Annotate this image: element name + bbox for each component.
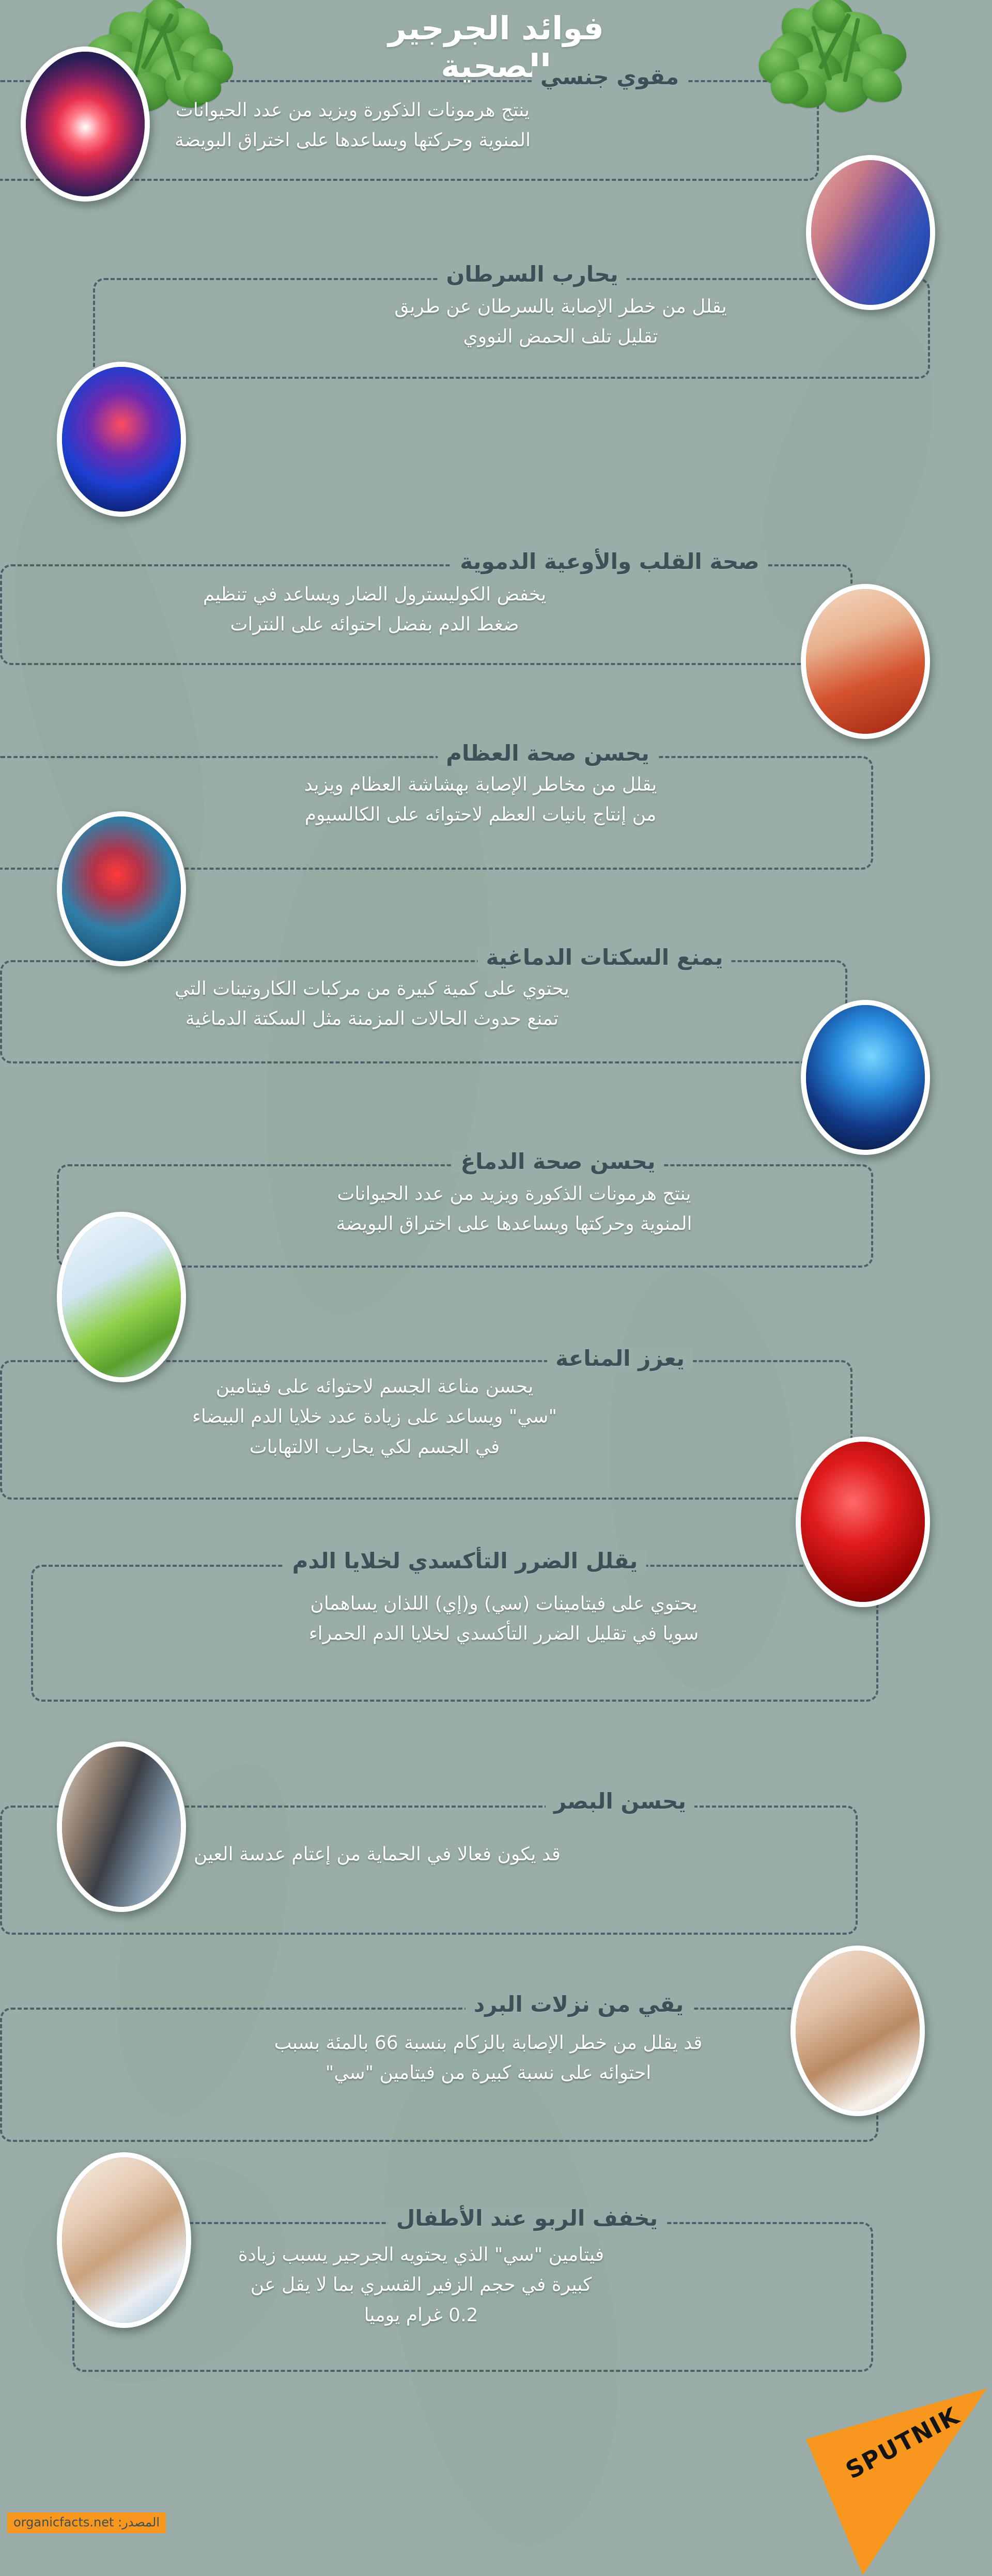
benefit-text-fights-cancer: يقلل من خطر الإصابة بالسرطان عن طريقتقلي… [222, 292, 899, 352]
benefit-text-line: "سي" ويساعد على زيادة عدد خلايا الدم الب… [31, 1402, 718, 1432]
benefit-heading-prevents-colds: يقي من نزلات البرد [466, 1994, 692, 2015]
sputnik-wedge-logo: SPUTNIK [805, 2377, 991, 2576]
benefit-text-heart-and-blood-vessels: يخفض الكوليسترول الضار ويساعد في تنظيمضغ… [31, 580, 718, 640]
benefit-text-line: كبيرة في حجم الزفير القسري بما لا يقل عن [103, 2270, 739, 2300]
benefit-heading-reduces-oxidative-damage: يقلل الضرر التأكسدي لخلايا الدم [284, 1550, 646, 1572]
title-line-2: الصحية [0, 47, 992, 85]
benefit-text-line: يخفض الكوليسترول الضار ويساعد في تنظيم [31, 580, 718, 610]
benefit-text-improves-vision: قد يكون فعالا في الحماية من إعتام عدسة ا… [31, 1840, 723, 1870]
benefit-text-line: ينتج هرمونات الذكورة ويزيد من عدد الحيوا… [21, 96, 685, 126]
benefit-heading-prevents-strokes: يمنع السكتات الدماغية [478, 947, 732, 968]
benefit-text-prevents-strokes: يحتوي على كمية كبيرة من مركبات الكاروتين… [31, 974, 713, 1035]
benefit-text-sexual-enhancer: ينتج هرمونات الذكورة ويزيد من عدد الحيوا… [21, 96, 685, 156]
infographic-page: فوائد الجرجير الصحية مقوي جنسيينتج هرمون… [0, 0, 992, 2576]
benefit-text-relieves-child-asthma: فيتامين "سي" الذي يحتويه الجرجير يسبب زي… [103, 2240, 739, 2331]
immunity-virus-shield-image [57, 1212, 186, 1382]
benefit-text-line: سويا في تقليل الضرر التأكسدي لخلايا الدم… [160, 1619, 847, 1649]
benefit-text-line: المنوية وحركتها ويساعدها على اختراق البو… [21, 126, 685, 156]
benefit-text-line: ضغط الدم بفضل احتوائه على النترات [31, 610, 718, 640]
benefit-heading-relieves-child-asthma: يخفف الربو عند الأطفال [388, 2208, 666, 2229]
cancer-cell-image [806, 155, 935, 310]
benefit-text-line: تمنع حدوث الحالات المزمنة مثل السكتة الد… [31, 1004, 713, 1034]
red-blood-cells-image [796, 1437, 930, 1607]
benefit-text-line: يحتوي على فيتامينات (سي) و(إي) اللذان يس… [160, 1589, 847, 1619]
benefit-text-line: ينتج هرمونات الذكورة ويزيد من عدد الحيوا… [186, 1179, 842, 1209]
benefit-heading-bone-health: يحسن صحة العظام [438, 743, 657, 764]
head-stroke-scan-image [57, 811, 186, 966]
human-brain-profile-image [801, 1000, 930, 1155]
benefit-heading-boosts-immunity: يعزز المناعة [547, 1348, 693, 1369]
title-line-1: فوائد الجرجير [0, 9, 992, 47]
benefit-text-line: في الجسم لكي يحارب الالتهابات [31, 1432, 718, 1462]
benefit-text-bone-health: يقلل من مخاطر الإصابة بهشاشة العظام ويزي… [119, 770, 842, 830]
page-title: فوائد الجرجير الصحية [0, 9, 992, 85]
benefit-text-line: تقليل تلف الحمض النووي [222, 322, 899, 352]
benefit-text-line: يحتوي على كمية كبيرة من مركبات الكاروتين… [31, 974, 713, 1004]
human-eye-closeup-image [57, 1741, 186, 1912]
benefit-text-line: قد يكون فعالا في الحماية من إعتام عدسة ا… [31, 1840, 723, 1870]
benefit-text-line: قد يقلل من خطر الإصابة بالزكام بنسبة 66 … [129, 2028, 847, 2058]
source-credit: المصدر: organicfacts.net [7, 2512, 166, 2533]
benefit-text-reduces-oxidative-damage: يحتوي على فيتامينات (سي) و(إي) اللذان يس… [160, 1589, 847, 1649]
benefit-text-line: 0.2 غرام يوميا [103, 2301, 739, 2331]
benefit-heading-sexual-enhancer: مقوي جنسي [532, 66, 687, 88]
benefit-text-boosts-immunity: يحسن مناعة الجسم لاحتوائه على فيتامين"سي… [31, 1372, 718, 1462]
benefit-text-line: من إنتاج بانيات العظم لاحتوائه على الكال… [119, 800, 842, 830]
benefit-text-line: فيتامين "سي" الذي يحتويه الجرجير يسبب زي… [103, 2240, 739, 2270]
benefit-text-line: احتوائه على نسبة كبيرة من فيتامين "سي" [129, 2058, 847, 2088]
benefit-text-line: المنوية وحركتها ويساعدها على اختراق البو… [186, 1209, 842, 1239]
benefit-text-line: يحسن مناعة الجسم لاحتوائه على فيتامين [31, 1372, 718, 1402]
benefit-heading-heart-and-blood-vessels: صحة القلب والأوعية الدموية [452, 551, 767, 573]
benefit-heading-fights-cancer: يحارب السرطان [438, 264, 626, 285]
benefit-heading-improves-vision: يحسن البصر [546, 1791, 694, 1812]
benefit-heading-brain-health: يحسن صحة الدماغ [452, 1151, 663, 1173]
wrist-bones-xray-image [801, 584, 930, 739]
circulatory-system-image [57, 362, 186, 517]
benefit-text-prevents-colds: قد يقلل من خطر الإصابة بالزكام بنسبة 66 … [129, 2028, 847, 2089]
benefit-text-line: يقلل من مخاطر الإصابة بهشاشة العظام ويزي… [119, 770, 842, 800]
benefit-text-brain-health: ينتج هرمونات الذكورة ويزيد من عدد الحيوا… [186, 1179, 842, 1240]
benefit-text-line: يقلل من خطر الإصابة بالسرطان عن طريق [222, 292, 899, 322]
